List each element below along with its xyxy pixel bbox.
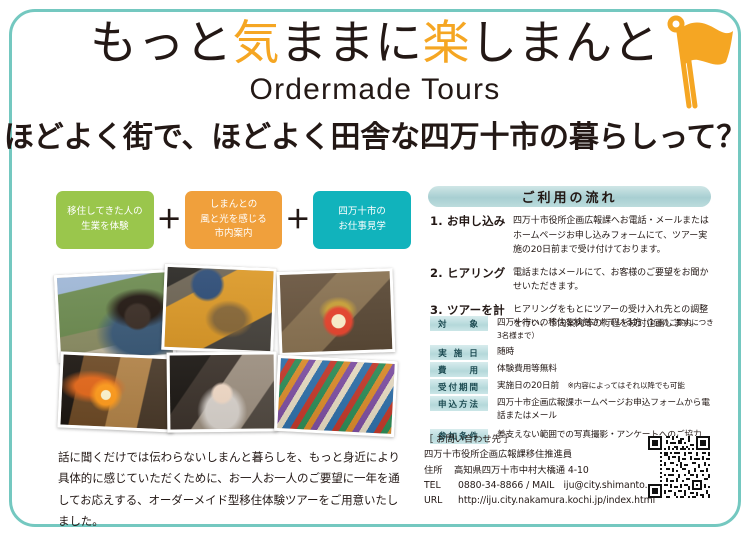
photo-lantern-lamp (277, 268, 396, 356)
row-label: 受付期間 (430, 379, 488, 394)
table-row: 費 用 体験費用等無料 (430, 362, 715, 377)
row-value: 体験費用等無料 (488, 362, 715, 376)
contact-address-label: 住所 (424, 463, 454, 478)
concept-line: しまんとの (210, 198, 257, 213)
concept-line: 市内案内 (215, 227, 253, 242)
flag-icon (660, 10, 738, 114)
contact-block: ［ お問い合わせ先 ］ 四万十市役所企画広報課移住推進員 住所高知県四万十市中村… (424, 432, 644, 509)
row-value-text: 四万十市への移住を検討されている方 (497, 318, 642, 328)
flow-step-label: 2. ヒアリング (430, 266, 513, 295)
headline-accent-1: 気 (233, 16, 281, 71)
row-value: 随時 (488, 345, 715, 359)
concept-boxes: 移住してきた人の 生業を体験 ＋ しまんとの 風と光を感じる 市内案内 ＋ 四万… (56, 191, 411, 249)
headline-accent-2: 楽 (423, 16, 471, 71)
subtitle-english: Ordermade Tours (0, 73, 750, 107)
contact-tel-label: TEL (424, 478, 458, 493)
flow-step-1: 1. お申し込み 四万十市役所企画広報課へお電話・メールまたはホームページお申し… (430, 214, 712, 258)
contact-heading: ［ お問い合わせ先 ］ (424, 432, 644, 447)
lead-paragraph: 話に聞くだけでは伝わらないしまんと暮らしを、もっと身近により具体的に感じていただ… (58, 447, 408, 532)
concept-line: お仕事見学 (338, 220, 386, 235)
row-value: 四万十市企画広報課ホームページお申込フォームから電話またはメール (488, 396, 715, 423)
contact-tel-line: TEL0880-34-8866 / MAIL iju@city.shimanto… (424, 478, 644, 493)
table-row: 実 施 日 随時 (430, 345, 715, 360)
subtitle-japanese: ほどよく街で、ほどよく田舎な四万十市の暮らしって？ (0, 112, 750, 156)
concept-line: 生業を体験 (81, 220, 129, 235)
concept-line: 四万十市の (338, 205, 386, 220)
row-value-note: ※内容によってはそれ以降でも可能 (568, 381, 685, 390)
details-table: 対 象 四万十市への移住を検討されている方（1回のご案内につき3名様まで） 実 … (430, 316, 715, 446)
headline: もっと気ままに楽しまんと (90, 18, 660, 71)
contact-address-value: 高知県四万十市中村大橋通 4-10 (454, 465, 589, 476)
photo-craftsman-pottery (161, 264, 277, 355)
row-label: 対 象 (430, 316, 488, 331)
contact-url-value[interactable]: http://iju.city.nakamura.kochi.jp/index.… (458, 495, 655, 506)
flow-step-2: 2. ヒアリング 電話またはメールにて、お客様のご要望をお聞かせいただきます。 (430, 266, 712, 295)
contact-organization: 四万十市役所企画広報課移住推進員 (424, 447, 644, 462)
row-label: 実 施 日 (430, 345, 488, 360)
photo-woven-ropes (274, 355, 398, 437)
row-value-text: 実施日の20日前 (497, 381, 568, 391)
photo-smiling-child (167, 351, 278, 432)
header: もっと気ままに楽しまんと Ordermade Tours ほどよく街で、ほどよく… (0, 18, 750, 156)
flow-section-title: ご利用の流れ (428, 186, 711, 207)
photo-forge-fire (57, 351, 176, 432)
row-value: 四万十市への移住を検討されている方（1回のご案内につき3名様まで） (488, 316, 715, 343)
flow-step-label: 1. お申し込み (430, 214, 513, 258)
table-row: 申込方法 四万十市企画広報課ホームページお申込フォームから電話またはメール (430, 396, 715, 423)
concept-box-worktour: 四万十市の お仕事見学 (313, 191, 411, 249)
concept-box-experience: 移住してきた人の 生業を体験 (56, 191, 154, 249)
row-value: 実施日の20日前 ※内容によってはそれ以降でも可能 (488, 379, 715, 393)
concept-box-citytour: しまんとの 風と光を感じる 市内案内 (185, 191, 283, 249)
table-row: 対 象 四万十市への移住を検討されている方（1回のご案内につき3名様まで） (430, 316, 715, 343)
concept-line: 風と光を感じる (200, 213, 267, 228)
headline-part-1: もっと (90, 16, 233, 71)
contact-tel-value: 0880-34-8866 / MAIL iju@city.shimanto.lg… (458, 480, 667, 491)
row-label: 費 用 (430, 362, 488, 377)
concept-line: 移住してきた人の (67, 205, 142, 220)
table-row: 受付期間 実施日の20日前 ※内容によってはそれ以降でも可能 (430, 379, 715, 394)
flow-step-description: 四万十市役所企画広報課へお電話・メールまたはホームページお申し込みフォームにて、… (513, 214, 712, 258)
contact-url-line[interactable]: URLhttp://iju.city.nakamura.kochi.jp/ind… (424, 493, 644, 508)
contact-address-line: 住所高知県四万十市中村大橋通 4-10 (424, 463, 644, 478)
photo-farmer-hillside (54, 269, 176, 363)
plus-separator-1: ＋ (154, 208, 185, 233)
qr-code-icon[interactable] (648, 436, 710, 498)
headline-part-3: しまんと (470, 16, 660, 71)
flow-step-description: 電話またはメールにて、お客様のご要望をお聞かせいただきます。 (513, 266, 712, 295)
plus-separator-2: ＋ (282, 208, 313, 233)
headline-part-2: ままに (280, 16, 423, 71)
flyer-page: もっと気ままに楽しまんと Ordermade Tours ほどよく街で、ほどよく… (0, 0, 750, 536)
contact-url-label: URL (424, 493, 458, 508)
photo-collage (50, 262, 410, 434)
row-label: 申込方法 (430, 396, 488, 411)
